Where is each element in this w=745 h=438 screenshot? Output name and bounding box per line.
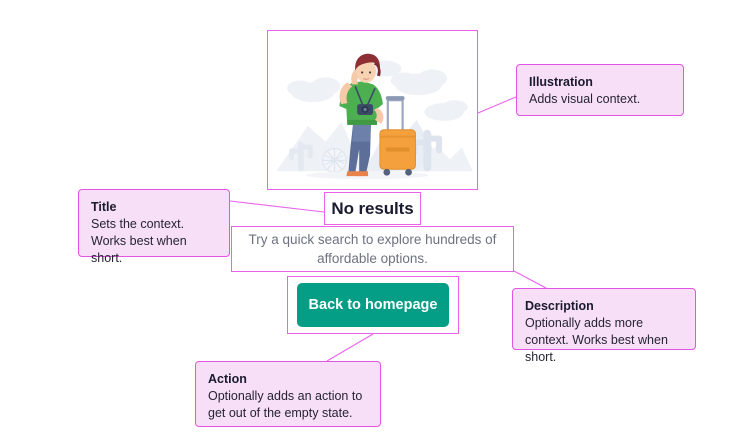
empty-state-title: No results [331,199,413,219]
annotation-title-title: Title [91,199,217,216]
annotation-action: Action Optionally adds an action to get … [195,361,381,427]
annotation-illustration-title: Illustration [529,74,671,91]
annotation-illustration-body: Adds visual context. [529,91,671,108]
connector-description [514,271,546,288]
empty-state-action-container: Back to homepage [287,276,459,334]
annotation-title-body: Sets the context. Works best when short. [91,216,217,267]
empty-state-title-container: No results [324,192,421,225]
annotation-title: Title Sets the context. Works best when … [78,189,230,257]
annotation-description-body: Optionally adds more context. Works best… [525,315,683,366]
annotation-action-title: Action [208,371,368,388]
empty-state-annotation-diagram: No results Try a quick search to explore… [0,0,745,438]
empty-state-description-container: Try a quick search to explore hundreds o… [231,226,514,272]
back-to-homepage-button[interactable]: Back to homepage [297,283,449,327]
empty-state-description: Try a quick search to explore hundreds o… [232,230,513,268]
connector-title [230,201,324,212]
annotation-action-body: Optionally adds an action to get out of … [208,388,368,422]
annotation-description-title: Description [525,298,683,315]
illustration-container [267,30,478,190]
traveler-with-suitcase-icon [268,31,477,189]
annotation-description: Description Optionally adds more context… [512,288,696,350]
connector-illustration [478,97,516,113]
connector-action [327,334,373,361]
annotation-illustration: Illustration Adds visual context. [516,64,684,116]
